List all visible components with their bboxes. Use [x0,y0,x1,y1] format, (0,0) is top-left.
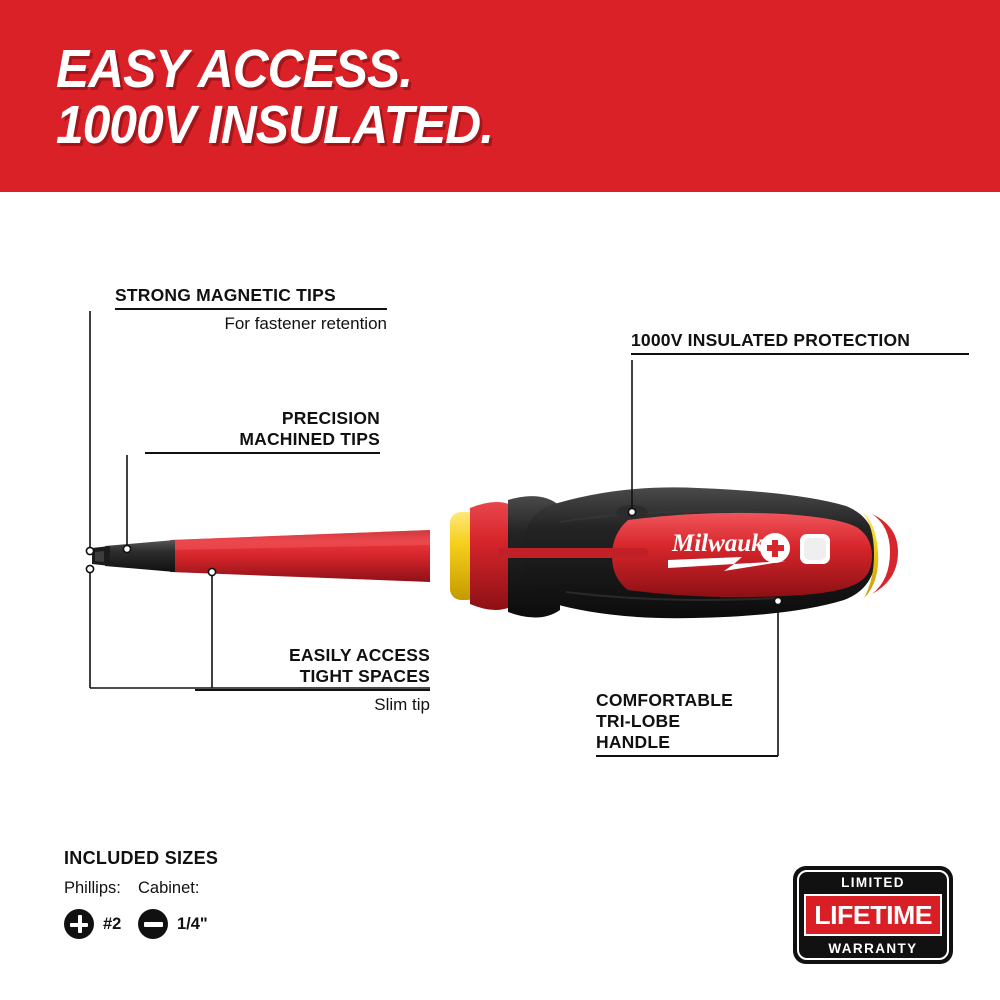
callout-heading-line3: HANDLE [596,732,778,753]
included-sizes-title: INCLUDED SIZES [64,848,218,869]
anchor-dot-handle [774,597,781,604]
phillips-plus-icon [64,909,94,939]
warranty-top-text: LIMITED [793,875,953,890]
lifetime-warranty-badge: LIMITED LIFETIME WARRANTY [793,866,953,964]
callout-insulated-protection: 1000V INSULATED PROTECTION [631,330,969,355]
callout-precision-machined-tips: PRECISION MACHINED TIPS [145,408,380,454]
callout-strong-magnetic-tips: STRONG MAGNETIC TIPS For fastener retent… [115,285,387,335]
callout-heading-line2: TRI-LOBE [596,711,778,732]
callout-rule [631,353,969,355]
callout-heading-line1: PRECISION [145,408,380,429]
phillips-size-value: #2 [103,915,121,934]
included-sizes-values: #2 1/4" [64,909,218,943]
callout-heading-line2: MACHINED TIPS [145,429,380,450]
callout-rule [195,689,430,691]
anchor-dot-slim-tip-a [86,565,93,572]
callout-rule [596,755,778,757]
callout-subtext: Slim tip [195,694,430,716]
callout-heading: STRONG MAGNETIC TIPS [115,285,387,306]
callout-subtext: For fastener retention [115,313,387,335]
warranty-bottom-text: WARRANTY [793,941,953,956]
slotted-minus-icon [138,909,168,939]
callout-rule [115,308,387,310]
cabinet-size-value: 1/4" [177,915,208,934]
callout-heading-line2: TIGHT SPACES [195,666,430,687]
callout-heading-line1: EASILY ACCESS [195,645,430,666]
included-sizes-labels: Phillips: Cabinet: [64,879,218,901]
included-sizes-section: INCLUDED SIZES Phillips: Cabinet: #2 1/4… [64,848,218,943]
cabinet-size-item: 1/4" [138,909,208,939]
cabinet-label: Cabinet: [138,879,199,898]
callout-heading: 1000V INSULATED PROTECTION [631,330,969,351]
phillips-label: Phillips: [64,879,121,898]
anchor-dot-insulated [628,508,635,515]
callout-easily-access-tight-spaces: EASILY ACCESS TIGHT SPACES Slim tip [195,645,430,716]
callout-rule [145,452,380,454]
anchor-dot-precision-tip [123,545,130,552]
callout-tri-lobe-handle: COMFORTABLE TRI-LOBE HANDLE [596,690,778,757]
callout-heading-line1: COMFORTABLE [596,690,778,711]
anchor-dot-slim-tip-b [208,568,215,575]
phillips-size-item: #2 [64,909,121,939]
anchor-dot-magnetic-tip [86,547,93,554]
warranty-middle-band: LIFETIME [804,894,942,936]
warranty-middle-text: LIFETIME [814,900,932,931]
